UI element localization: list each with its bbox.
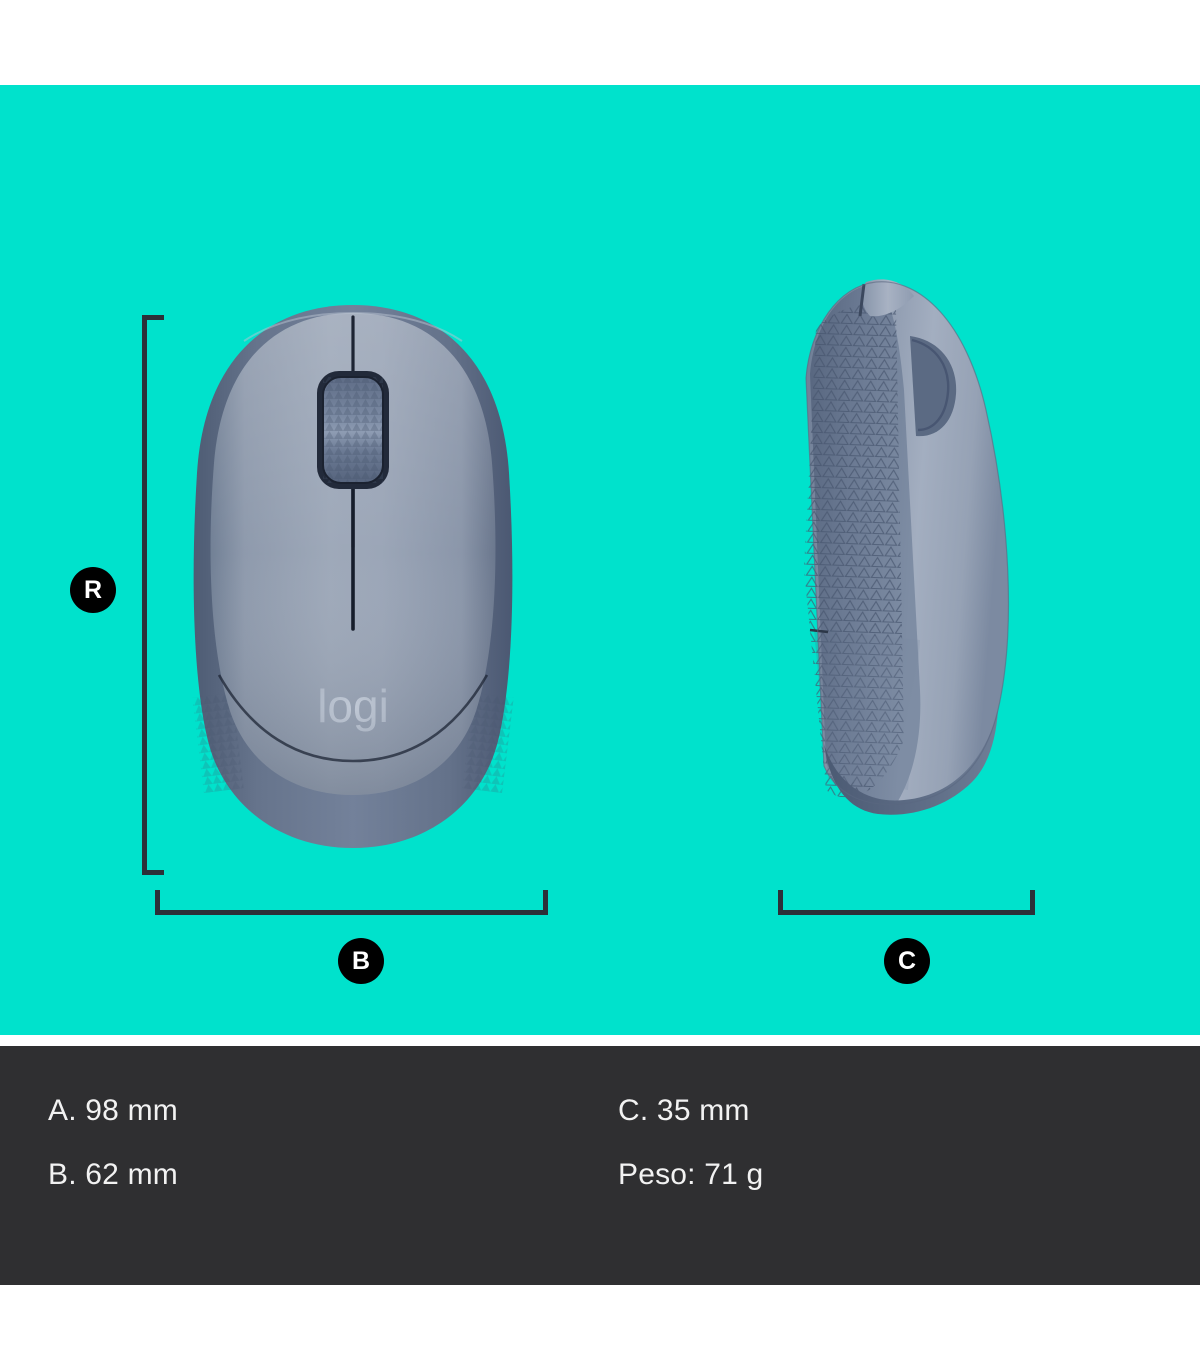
spec-item-a: A. 98 mm xyxy=(48,1094,618,1128)
mouse-side-view xyxy=(780,270,1040,880)
scroll-wheel-texture xyxy=(323,377,383,483)
dimension-badge-a: R xyxy=(70,567,116,613)
product-dimensions-hero: R B C xyxy=(0,85,1200,1035)
spec-item-b: B. 62 mm xyxy=(48,1158,618,1192)
spec-item-c: C. 35 mm xyxy=(618,1094,1148,1128)
dimension-tick-b-right xyxy=(543,890,548,915)
specification-grid: A. 98 mm C. 35 mm B. 62 mm Peso: 71 g xyxy=(48,1094,1148,1192)
dimension-badge-b-label: B xyxy=(352,949,370,974)
specification-panel: A. 98 mm C. 35 mm B. 62 mm Peso: 71 g xyxy=(0,1046,1200,1285)
dimension-badge-a-label: R xyxy=(84,578,102,603)
dimension-line-vertical-a xyxy=(142,315,147,875)
logi-wordmark: logi xyxy=(317,680,389,732)
dimension-tick-c-right xyxy=(1030,890,1035,915)
dimension-badge-c-label: C xyxy=(898,949,916,974)
dimension-tick-b-left xyxy=(155,890,160,915)
dimension-line-horizontal-b xyxy=(155,910,548,915)
dimension-line-horizontal-c xyxy=(778,910,1035,915)
scroll-wheel xyxy=(317,371,389,489)
dimension-tick-a-top xyxy=(142,315,164,320)
dimension-badge-c: C xyxy=(884,938,930,984)
spec-item-peso: Peso: 71 g xyxy=(618,1158,1148,1192)
dimension-tick-c-left xyxy=(778,890,783,915)
svg-text:logi: logi xyxy=(317,680,389,732)
mouse-top-view: logi xyxy=(172,303,534,863)
dimension-badge-b: B xyxy=(338,938,384,984)
dimension-tick-a-bottom xyxy=(142,870,164,875)
